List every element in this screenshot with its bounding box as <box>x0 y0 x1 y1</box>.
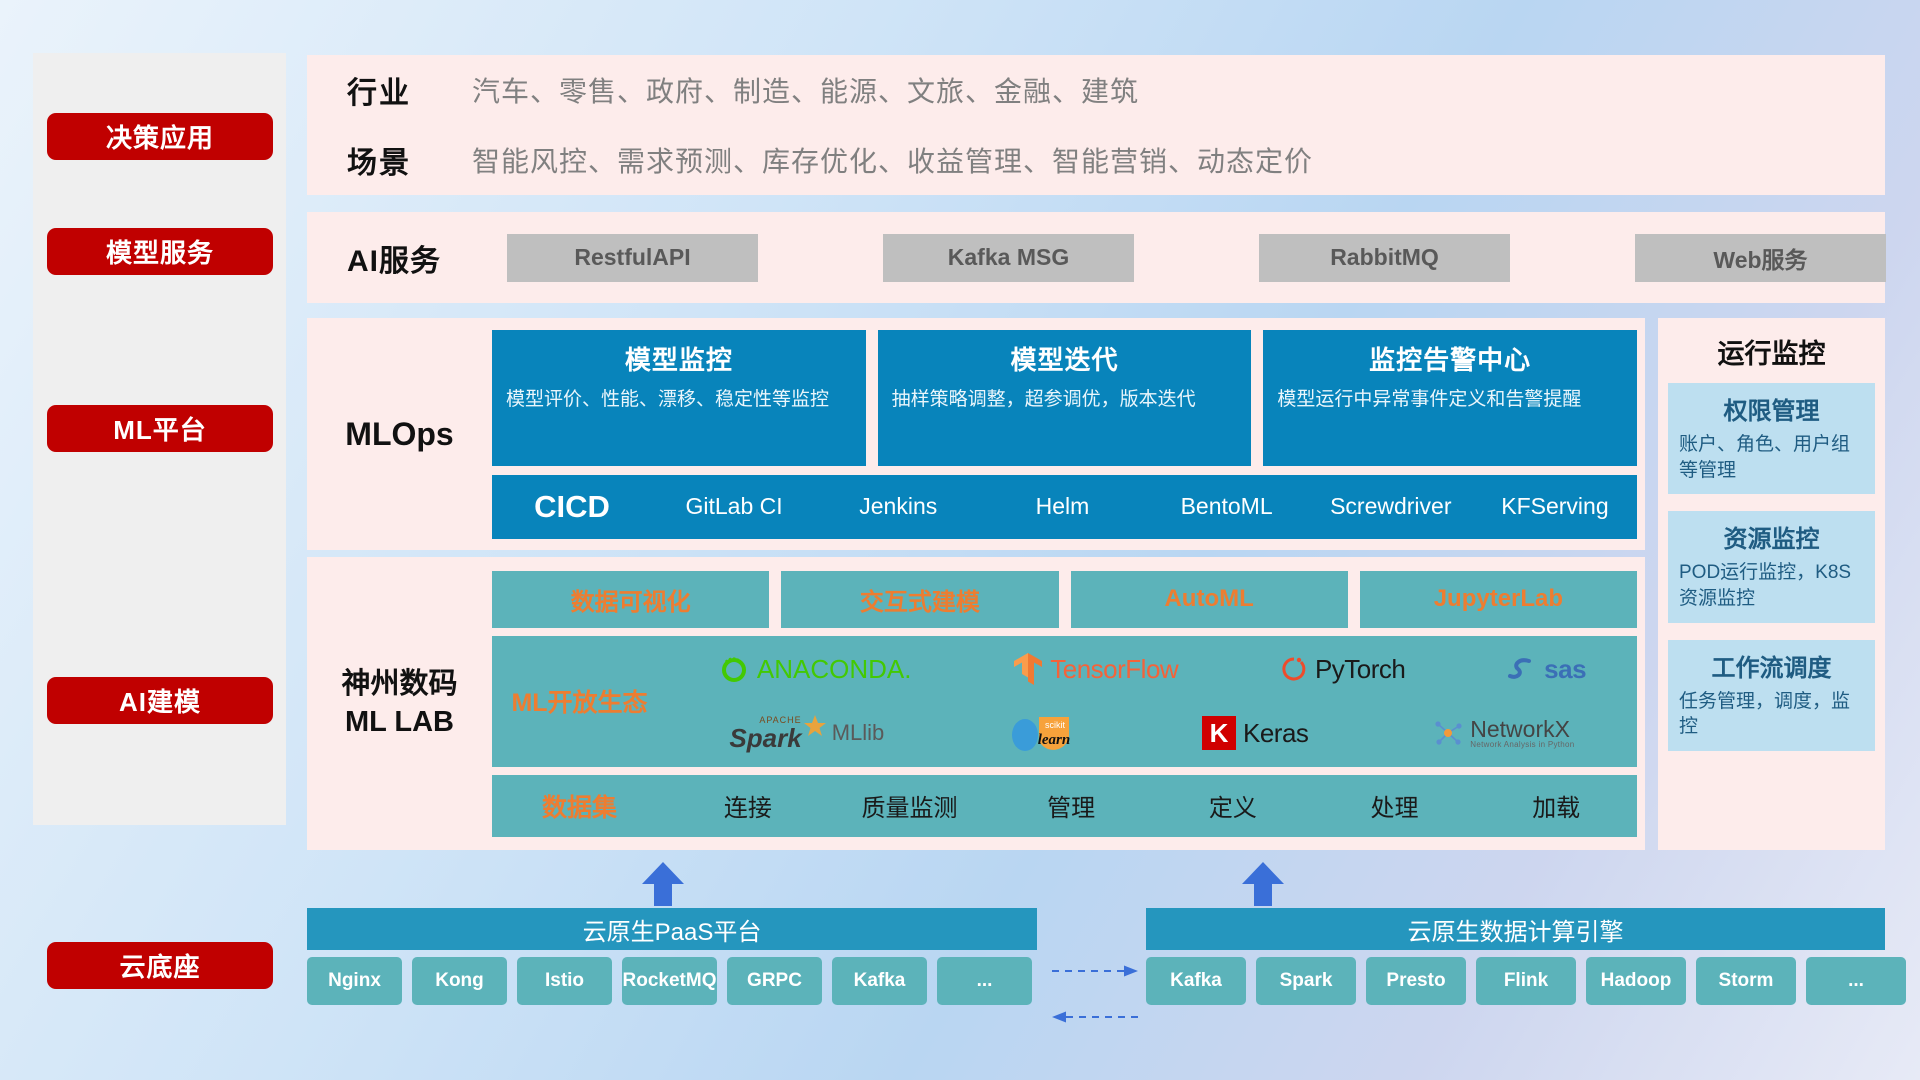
ml-open-ecosystem-label: ML开放生态 <box>492 683 667 719</box>
industry-scenario-panel: 行业 汽车、零售、政府、制造、能源、文旅、金融、建筑 场景 智能风控、需求预测、… <box>307 55 1885 195</box>
rail-chip-label: 云底座 <box>119 947 200 984</box>
tensorflow-logo: TensorFlow <box>1013 652 1178 686</box>
card-title: 模型迭代 <box>892 340 1238 377</box>
rail-chip-cloud-base[interactable]: 云底座 <box>47 942 273 989</box>
pill-grpc[interactable]: GRPC <box>727 957 822 1005</box>
cicd-item-bentoml[interactable]: BentoML <box>1145 492 1309 521</box>
cicd-item-list: GitLab CI Jenkins Helm BentoML Screwdriv… <box>652 492 1637 521</box>
chip-label: RestfulAPI <box>574 244 690 271</box>
ai-service-row: AI服务 RestfulAPI Kafka MSG RabbitMQ Web服务 <box>307 212 1885 303</box>
pill-nginx[interactable]: Nginx <box>307 957 402 1005</box>
rail-chip-label: 模型服务 <box>106 233 214 270</box>
rail-chip-decision-app[interactable]: 决策应用 <box>47 113 273 160</box>
rail-chip-model-service[interactable]: 模型服务 <box>47 228 273 275</box>
paas-component-pills: Nginx Kong Istio RocketMQ GRPC Kafka ... <box>307 957 1032 1005</box>
rail-chip-ai-modeling[interactable]: AI建模 <box>47 677 273 724</box>
tensorflow-icon <box>1013 652 1043 686</box>
svg-text:learn: learn <box>1038 732 1071 748</box>
ai-service-chip-restfulapi[interactable]: RestfulAPI <box>507 234 758 282</box>
cicd-item-jenkins[interactable]: Jenkins <box>816 492 980 521</box>
industry-row: 行业 汽车、零售、政府、制造、能源、文旅、金融、建筑 <box>307 55 1885 125</box>
ecosystem-logo-row-2: APACHE Spark MLlib <box>667 702 1637 764</box>
mlops-card-model-monitoring[interactable]: 模型监控 模型评价、性能、漂移、稳定性等监控 <box>492 330 866 466</box>
arrow-up-data-engine-to-mllab <box>1240 860 1286 906</box>
chip-label: Web服务 <box>1713 241 1807 275</box>
dashed-arrow-left <box>1052 1010 1138 1024</box>
tool-chip-data-visualization[interactable]: 数据可视化 <box>492 571 769 628</box>
pill-kafka-right[interactable]: Kafka <box>1146 957 1246 1005</box>
pill-storm[interactable]: Storm <box>1696 957 1796 1005</box>
chip-label: Kafka MSG <box>948 244 1069 271</box>
mlops-card-list: 模型监控 模型评价、性能、漂移、稳定性等监控 模型迭代 抽样策略调整，超参调优，… <box>492 330 1637 466</box>
dataset-item-process[interactable]: 处理 <box>1314 788 1476 823</box>
pytorch-wordmark: PyTorch <box>1315 654 1405 685</box>
card-title: 权限管理 <box>1679 391 1864 426</box>
dataset-band: 数据集 连接 质量监测 管理 定义 处理 加载 <box>492 775 1637 837</box>
card-desc: POD运行监控，K8S资源监控 <box>1679 560 1864 611</box>
networkx-tagline: Network Analysis in Python <box>1470 741 1574 749</box>
runtime-monitoring-title: 运行监控 <box>1658 318 1885 383</box>
cicd-title: CICD <box>492 489 652 525</box>
networkx-logo: NetworkX Network Analysis in Python <box>1433 717 1574 750</box>
bar-label: 云原生数据计算引擎 <box>1408 912 1624 947</box>
cicd-bar: CICD GitLab CI Jenkins Helm BentoML Scre… <box>492 475 1637 539</box>
chip-label: RabbitMQ <box>1330 244 1439 271</box>
bar-label: 云原生PaaS平台 <box>583 912 762 947</box>
pill-kong[interactable]: Kong <box>412 957 507 1005</box>
card-title: 监控告警中心 <box>1277 340 1623 377</box>
ai-service-chip-rabbitmq[interactable]: RabbitMQ <box>1259 234 1510 282</box>
pill-hadoop[interactable]: Hadoop <box>1586 957 1686 1005</box>
cloud-native-data-engine-bar[interactable]: 云原生数据计算引擎 <box>1146 908 1885 950</box>
networkx-wordmark: NetworkX <box>1470 717 1574 741</box>
sas-wordmark: sas <box>1544 654 1586 685</box>
networkx-icon <box>1433 718 1463 748</box>
pill-flink[interactable]: Flink <box>1476 957 1576 1005</box>
mlops-label: MLOps <box>307 416 492 453</box>
pytorch-icon <box>1280 653 1308 685</box>
dataset-label: 数据集 <box>492 788 667 824</box>
industry-value: 汽车、零售、政府、制造、能源、文旅、金融、建筑 <box>472 70 1139 110</box>
pytorch-logo: PyTorch <box>1280 653 1405 685</box>
tool-chip-automl[interactable]: AutoML <box>1071 571 1348 628</box>
card-desc: 模型评价、性能、漂移、稳定性等监控 <box>506 387 852 413</box>
ml-lab-tools: 数据可视化 交互式建模 AutoML JupyterLab <box>492 571 1637 628</box>
rail-chip-label: ML平台 <box>113 410 207 447</box>
cloud-native-paas-bar[interactable]: 云原生PaaS平台 <box>307 908 1037 950</box>
dataset-item-quality-monitoring[interactable]: 质量监测 <box>829 788 991 823</box>
ai-service-chip-web-service[interactable]: Web服务 <box>1635 234 1886 282</box>
tensorflow-wordmark: TensorFlow <box>1050 654 1178 685</box>
card-desc: 模型运行中异常事件定义和告警提醒 <box>1277 387 1623 413</box>
mlops-card-model-iteration[interactable]: 模型迭代 抽样策略调整，超参调优，版本迭代 <box>878 330 1252 466</box>
pill-istio[interactable]: Istio <box>517 957 612 1005</box>
ml-open-ecosystem-band: ML开放生态 ANACONDA. <box>492 636 1637 767</box>
ai-service-chip-kafka-msg[interactable]: Kafka MSG <box>883 234 1134 282</box>
dataset-item-manage[interactable]: 管理 <box>990 788 1152 823</box>
card-desc: 抽样策略调整，超参调优，版本迭代 <box>892 387 1238 413</box>
pill-rocketmq[interactable]: RocketMQ <box>622 957 717 1005</box>
scenario-value: 智能风控、需求预测、库存优化、收益管理、智能营销、动态定价 <box>472 140 1313 180</box>
scikit-learn-logo: scikit learn <box>1009 711 1077 755</box>
card-title: 工作流调度 <box>1679 648 1864 683</box>
spark-star-icon <box>803 714 827 738</box>
pill-kafka[interactable]: Kafka <box>832 957 927 1005</box>
arrow-up-paas-to-mllab <box>640 860 686 906</box>
dataset-item-load[interactable]: 加载 <box>1475 788 1637 823</box>
monitoring-card-resource[interactable]: 资源监控 POD运行监控，K8S资源监控 <box>1668 511 1875 622</box>
scenario-label: 场景 <box>347 138 472 182</box>
rail-chip-label: 决策应用 <box>106 118 214 155</box>
tool-chip-interactive-modeling[interactable]: 交互式建模 <box>781 571 1058 628</box>
ai-service-label: AI服务 <box>347 236 472 280</box>
cicd-item-helm[interactable]: Helm <box>980 492 1144 521</box>
monitoring-card-workflow[interactable]: 工作流调度 任务管理，调度，监控 <box>1668 640 1875 751</box>
spark-mllib-logo: APACHE Spark MLlib <box>729 716 884 751</box>
data-engine-component-pills: Kafka Spark Presto Flink Hadoop Storm ..… <box>1146 957 1906 1005</box>
ecosystem-logo-row-1: ANACONDA. TensorFlow <box>667 638 1637 700</box>
dataset-item-connect[interactable]: 连接 <box>667 788 829 823</box>
dashed-arrow-right <box>1052 964 1138 978</box>
pill-presto[interactable]: Presto <box>1366 957 1466 1005</box>
mllib-wordmark: MLlib <box>832 720 885 746</box>
mlops-card-alert-center[interactable]: 监控告警中心 模型运行中异常事件定义和告警提醒 <box>1263 330 1637 466</box>
ai-service-items: RestfulAPI Kafka MSG RabbitMQ Web服务 <box>507 234 1886 282</box>
anaconda-wordmark: ANACONDA. <box>757 654 912 685</box>
industry-label: 行业 <box>347 68 472 112</box>
architecture-diagram: 决策应用 模型服务 ML平台 AI建模 云底座 行业 汽车、零售、政府、制造、能… <box>0 0 1920 1080</box>
dataset-item-list: 连接 质量监测 管理 定义 处理 加载 <box>667 788 1637 823</box>
ml-lab-panel: 神州数码 ML LAB 数据可视化 交互式建模 AutoML JupyterLa… <box>307 557 1645 850</box>
card-desc: 任务管理，调度，监控 <box>1679 689 1864 740</box>
ml-lab-label: 神州数码 ML LAB <box>307 666 492 741</box>
card-title: 模型监控 <box>506 340 852 377</box>
scenario-row: 场景 智能风控、需求预测、库存优化、收益管理、智能营销、动态定价 <box>307 125 1885 195</box>
rail-chip-label: AI建模 <box>119 682 201 719</box>
ml-lab-label-line2: ML LAB <box>307 704 492 742</box>
card-title: 资源监控 <box>1679 519 1864 554</box>
rail-chip-ml-platform[interactable]: ML平台 <box>47 405 273 452</box>
sas-icon <box>1507 654 1537 684</box>
cicd-item-kfserving[interactable]: KFServing <box>1473 492 1637 521</box>
tool-chip-jupyterlab[interactable]: JupyterLab <box>1360 571 1637 628</box>
dataset-item-define[interactable]: 定义 <box>1152 788 1314 823</box>
spark-wordmark: Spark <box>729 725 801 751</box>
keras-icon: K <box>1202 716 1236 750</box>
sas-logo: sas <box>1507 654 1586 685</box>
cicd-item-screwdriver[interactable]: Screwdriver <box>1309 492 1473 521</box>
keras-wordmark: Keras <box>1243 718 1308 749</box>
ai-service-panel: AI服务 RestfulAPI Kafka MSG RabbitMQ Web服务 <box>307 212 1885 303</box>
monitoring-card-permission[interactable]: 权限管理 账户、角色、用户组等管理 <box>1668 383 1875 494</box>
pill-more-left[interactable]: ... <box>937 957 1032 1005</box>
cicd-item-gitlab-ci[interactable]: GitLab CI <box>652 492 816 521</box>
card-desc: 账户、角色、用户组等管理 <box>1679 432 1864 483</box>
mlops-panel: MLOps 模型监控 模型评价、性能、漂移、稳定性等监控 模型迭代 抽样策略调整… <box>307 318 1645 550</box>
anaconda-icon <box>718 653 750 685</box>
anaconda-logo: ANACONDA. <box>718 653 912 685</box>
svg-text:scikit: scikit <box>1045 720 1065 730</box>
ml-lab-label-line1: 神州数码 <box>307 666 492 704</box>
pill-more-right[interactable]: ... <box>1806 957 1906 1005</box>
keras-logo: K Keras <box>1202 716 1308 750</box>
runtime-monitoring-panel: 运行监控 权限管理 账户、角色、用户组等管理 资源监控 POD运行监控，K8S资… <box>1658 318 1885 850</box>
scikit-learn-icon: scikit learn <box>1009 711 1077 755</box>
pill-spark[interactable]: Spark <box>1256 957 1356 1005</box>
